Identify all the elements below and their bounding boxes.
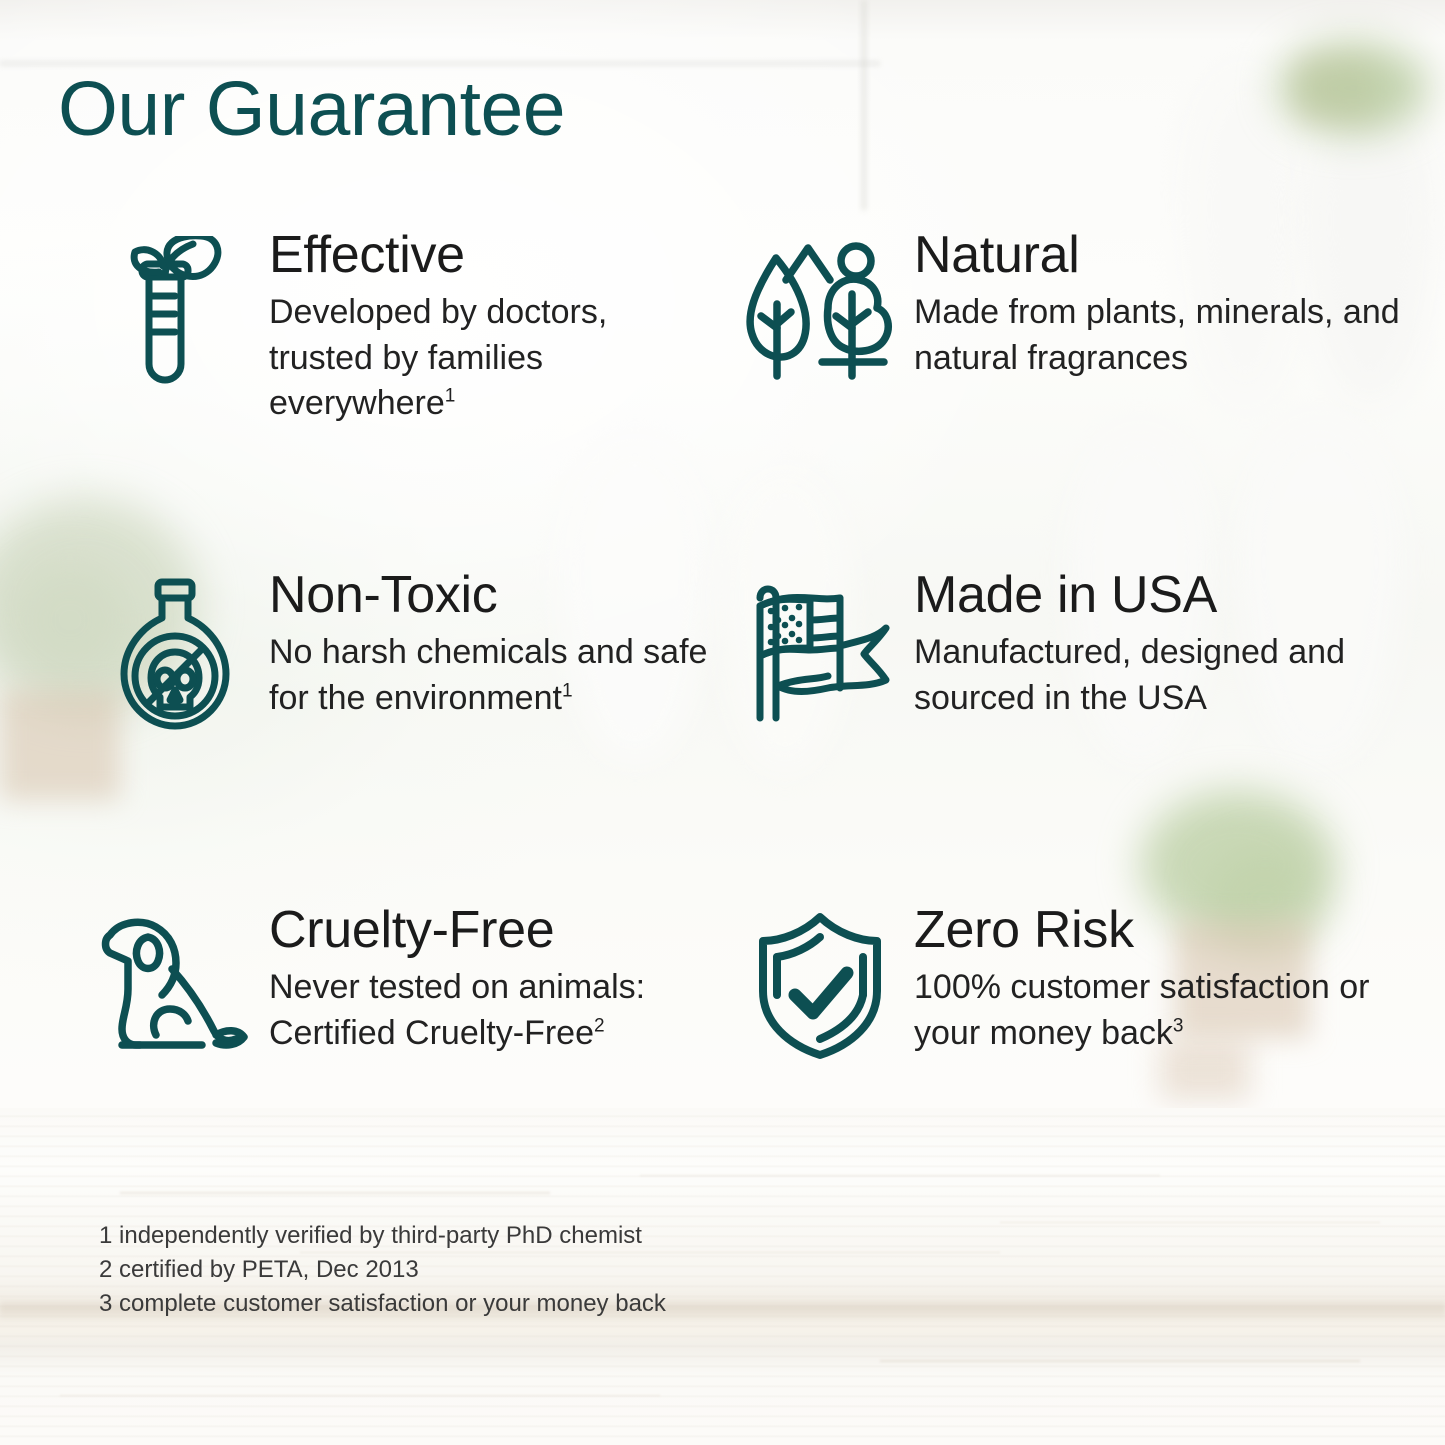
feature-description-text: Made from plants, minerals, and natural … [914, 293, 1400, 377]
guarantee-infographic: Our Guarantee [0, 0, 1445, 1445]
poison-bottle-skull-crossed-out-icon [95, 568, 255, 736]
feature-description-text: Never tested on animals: Certified Cruel… [269, 968, 645, 1052]
feature-description: Developed by doctors, trusted by familie… [269, 290, 720, 427]
feature-card-cruelty-free: Cruelty-Free Never tested on animals: Ce… [0, 903, 720, 1153]
feature-card-made-in-usa: Made in USA Manufactured, designed and s… [720, 568, 1445, 903]
feature-description-text: No harsh chemicals and safe for the envi… [269, 633, 707, 717]
features-row: Effective Developed by doctors, trusted … [0, 228, 1445, 568]
feature-description: 100% customer satisfaction or your money… [914, 965, 1404, 1056]
feature-description-text: Developed by doctors, trusted by familie… [269, 293, 607, 422]
feature-text: Effective Developed by doctors, trusted … [255, 228, 720, 427]
feature-card-non-toxic: Non-Toxic No harsh chemicals and safe fo… [0, 568, 720, 903]
usa-flag-icon [740, 568, 900, 726]
feature-title: Zero Risk [914, 903, 1445, 957]
feature-title: Cruelty-Free [269, 903, 720, 957]
feature-title: Non-Toxic [269, 568, 720, 622]
feature-description: Never tested on animals: Certified Cruel… [269, 965, 720, 1056]
footnote-line: 1 independently verified by third-party … [99, 1219, 666, 1253]
page-title: Our Guarantee [58, 71, 565, 148]
features-row: Cruelty-Free Never tested on animals: Ce… [0, 903, 1445, 1153]
features-grid: Effective Developed by doctors, trusted … [0, 228, 1445, 1153]
feature-description-text: 100% customer satisfaction or your money… [914, 968, 1369, 1052]
feature-text: Non-Toxic No harsh chemicals and safe fo… [255, 568, 720, 721]
feature-card-natural: Natural Made from plants, minerals, and … [720, 228, 1445, 568]
footnote-marker: 1 [562, 680, 573, 701]
feature-text: Zero Risk 100% customer satisfaction or … [900, 903, 1445, 1056]
feature-description: No harsh chemicals and safe for the envi… [269, 630, 720, 721]
feature-text: Natural Made from plants, minerals, and … [900, 228, 1445, 381]
sitting-dog-icon [95, 903, 255, 1056]
footnote-marker: 1 [445, 386, 456, 407]
feature-description: Manufactured, designed and sourced in th… [914, 630, 1404, 721]
trees-nature-icon [740, 228, 900, 386]
feature-title: Made in USA [914, 568, 1445, 622]
feature-text: Made in USA Manufactured, designed and s… [900, 568, 1445, 721]
shield-check-icon [740, 903, 900, 1061]
feature-title: Effective [269, 228, 720, 282]
feature-title: Natural [914, 228, 1445, 282]
footnote-marker: 2 [594, 1015, 605, 1036]
footnote-line: 2 certified by PETA, Dec 2013 [99, 1253, 666, 1287]
footnote-line: 3 complete customer satisfaction or your… [99, 1287, 666, 1321]
feature-description-text: Manufactured, designed and sourced in th… [914, 633, 1345, 717]
feature-card-zero-risk: Zero Risk 100% customer satisfaction or … [720, 903, 1445, 1153]
feature-text: Cruelty-Free Never tested on animals: Ce… [255, 903, 720, 1056]
features-row: Non-Toxic No harsh chemicals and safe fo… [0, 568, 1445, 903]
feature-card-effective: Effective Developed by doctors, trusted … [0, 228, 720, 568]
feature-description: Made from plants, minerals, and natural … [914, 290, 1404, 381]
footnotes: 1 independently verified by third-party … [99, 1219, 666, 1321]
footnote-marker: 3 [1173, 1015, 1184, 1036]
test-tube-sprout-icon [95, 228, 255, 396]
